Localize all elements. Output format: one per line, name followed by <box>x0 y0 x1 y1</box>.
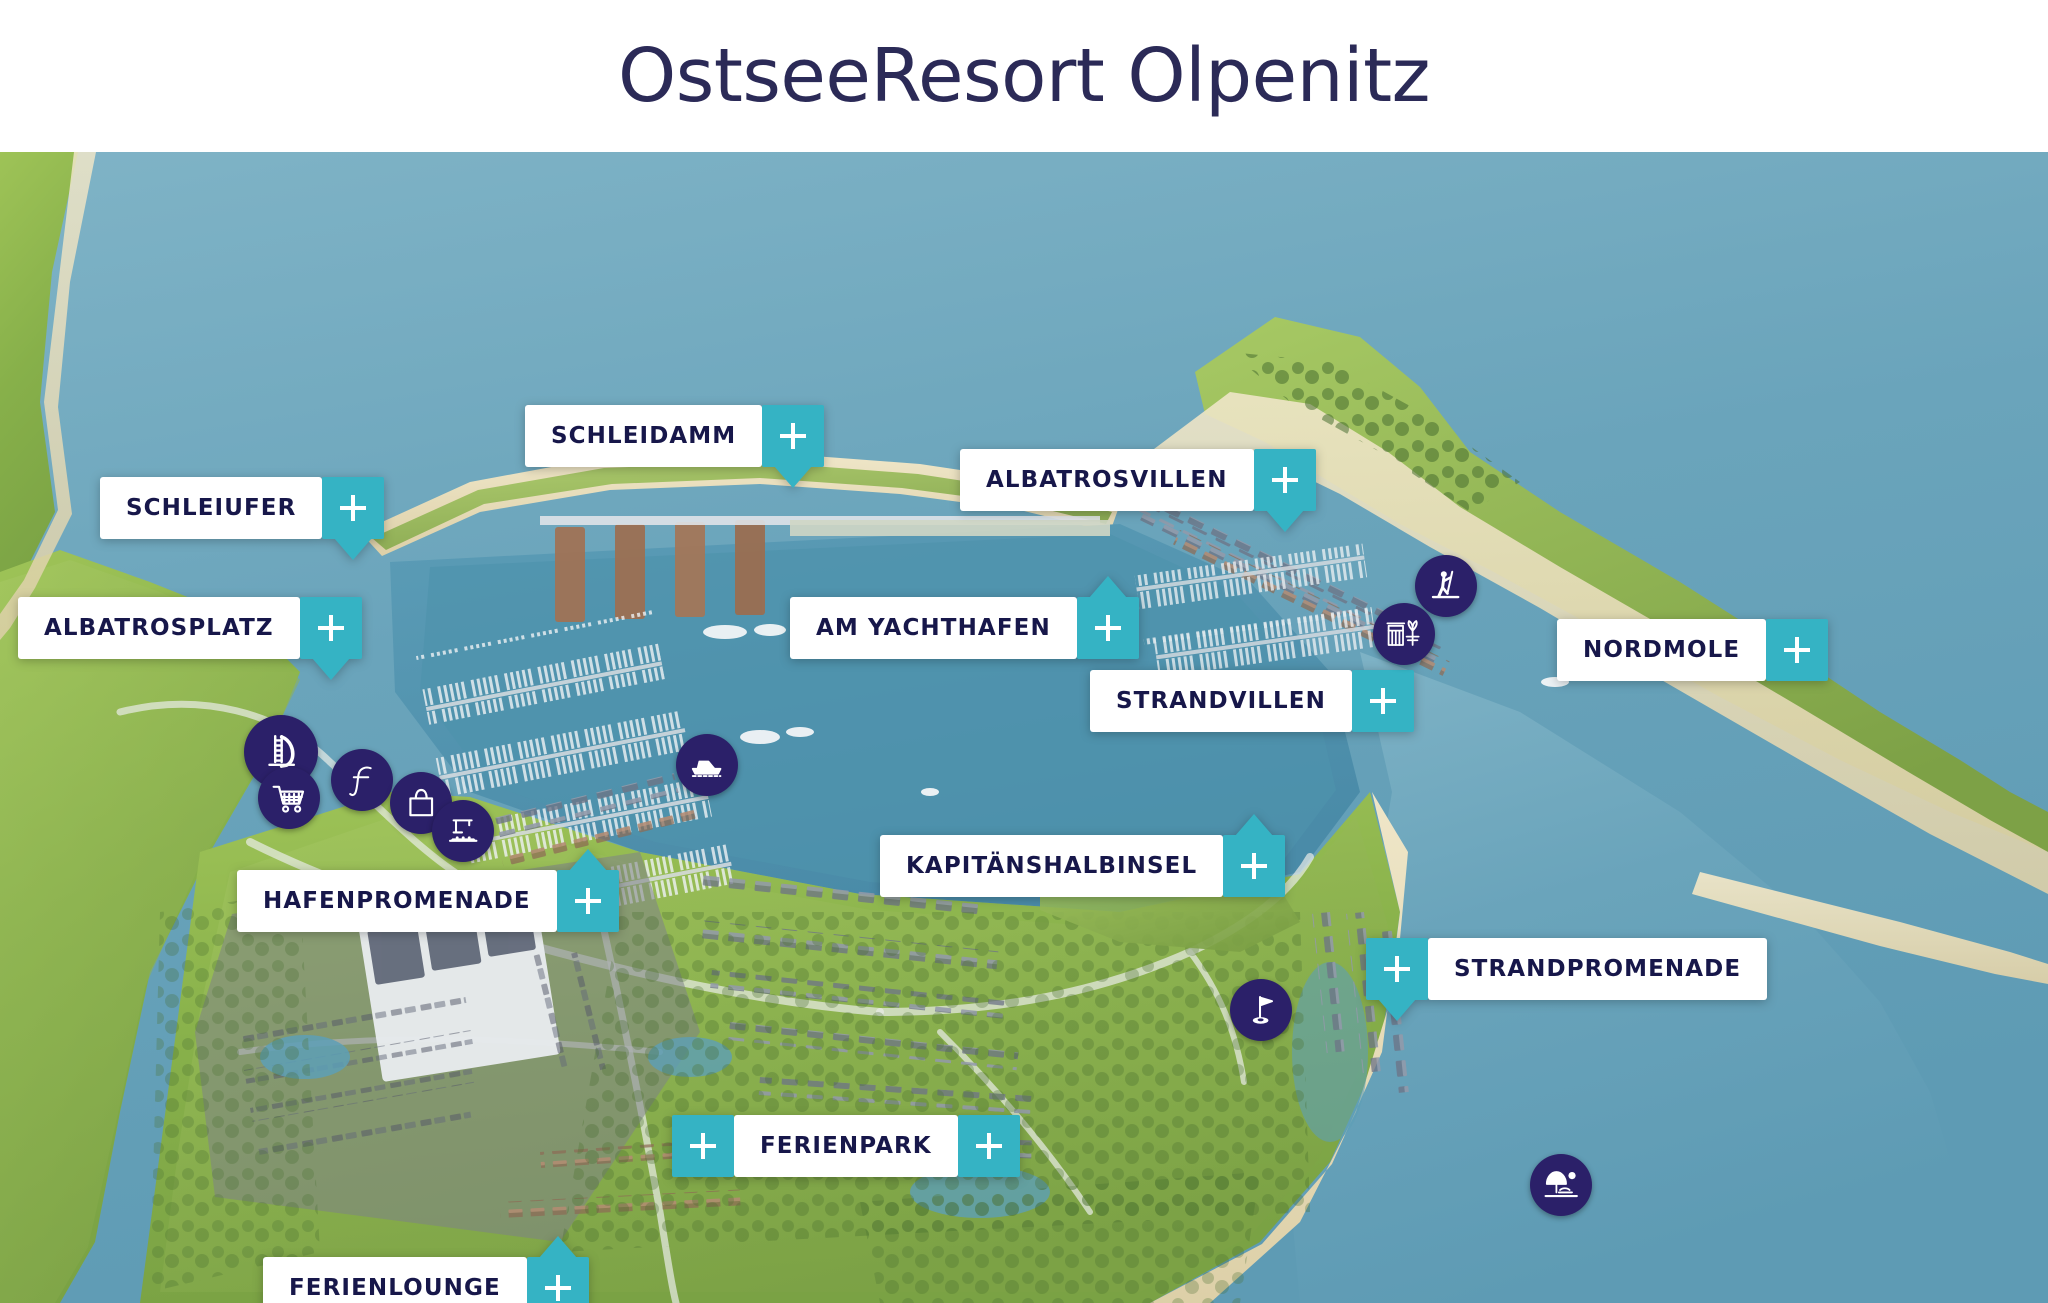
hotspot-label: HAFENPROMENADE <box>237 870 557 932</box>
hotspot-ferienpark[interactable]: FERIENPARK <box>672 1115 1020 1177</box>
hotspot-schleiufer[interactable]: SCHLEIUFER <box>100 477 384 539</box>
plus-icon[interactable] <box>1766 619 1828 681</box>
hotspot-nordmole[interactable]: NORDMOLE <box>1557 619 1828 681</box>
pointer-tail <box>1266 510 1304 532</box>
hotspot-label: NORDMOLE <box>1557 619 1766 681</box>
shopping-cart-icon[interactable] <box>258 767 320 829</box>
plus-icon[interactable] <box>762 405 824 467</box>
hotspot-albatrosvillen[interactable]: ALBATROSVILLEN <box>960 449 1316 511</box>
plus-icon-right[interactable] <box>958 1115 1020 1177</box>
hotspot-strandvillen[interactable]: STRANDVILLEN <box>1090 670 1414 732</box>
hotspot-label: KAPITÄNSHALBINSEL <box>880 835 1223 897</box>
hotspot-label: AM YACHTHAFEN <box>790 597 1077 659</box>
hotspot-ferienlounge[interactable]: FERIENLOUNGE <box>263 1257 589 1303</box>
plus-icon[interactable] <box>1077 597 1139 659</box>
plus-icon[interactable] <box>1352 670 1414 732</box>
pointer-tail <box>334 538 372 560</box>
pointer-tail <box>569 849 607 871</box>
hotspot-label: ALBATROSPLATZ <box>18 597 300 659</box>
page-title: OstseeResort Olpenitz <box>618 39 1430 113</box>
hotspot-label: ALBATROSVILLEN <box>960 449 1254 511</box>
hotspot-label: FERIENLOUNGE <box>263 1257 527 1303</box>
hotspot-label: FERIENPARK <box>734 1115 958 1177</box>
pointer-tail <box>1089 576 1127 598</box>
pointer-tail <box>1235 814 1273 836</box>
f-monogram-icon[interactable] <box>331 749 393 811</box>
hotspot-am-yachthafen[interactable]: AM YACHTHAFEN <box>790 597 1139 659</box>
plus-icon[interactable] <box>1254 449 1316 511</box>
hotspot-kapitaenshalbinsel[interactable]: KAPITÄNSHALBINSEL <box>880 835 1285 897</box>
hotspot-label: STRANDPROMENADE <box>1428 938 1767 1000</box>
hotspot-label: STRANDVILLEN <box>1090 670 1352 732</box>
golf-flag-icon[interactable] <box>1230 979 1292 1041</box>
pointer-tail <box>774 466 812 488</box>
resort-map-page: OstseeResort Olpenitz <box>0 0 2048 1303</box>
plus-icon[interactable] <box>557 870 619 932</box>
hotspot-hafenpromenade[interactable]: HAFENPROMENADE <box>237 870 619 932</box>
page-header: OstseeResort Olpenitz <box>0 0 2048 152</box>
plus-icon[interactable] <box>1223 835 1285 897</box>
plus-icon[interactable] <box>1366 938 1428 1000</box>
harbor-crane-icon[interactable] <box>432 800 494 862</box>
pointer-tail <box>312 658 350 680</box>
plus-icon[interactable] <box>322 477 384 539</box>
hotspot-label: SCHLEIUFER <box>100 477 322 539</box>
beach-umbrella-icon[interactable] <box>1530 1154 1592 1216</box>
aerial-resort-map[interactable]: SCHLEIDAMM SCHLEIUFER ALBATROSVILLEN ALB… <box>0 152 2048 1303</box>
hotspot-schleidamm[interactable]: SCHLEIDAMM <box>525 405 824 467</box>
plus-icon[interactable] <box>527 1257 589 1303</box>
spa-icon[interactable] <box>1373 603 1435 665</box>
plus-icon-left[interactable] <box>672 1115 734 1177</box>
plus-icon[interactable] <box>300 597 362 659</box>
pointer-tail <box>1378 999 1416 1021</box>
paddleboard-icon[interactable] <box>1415 555 1477 617</box>
hotspot-albatrosplatz[interactable]: ALBATROSPLATZ <box>18 597 362 659</box>
motorboat-icon[interactable] <box>676 734 738 796</box>
pointer-tail <box>539 1236 577 1258</box>
hotspot-strandpromenade[interactable]: STRANDPROMENADE <box>1366 938 1767 1000</box>
hotspot-label: SCHLEIDAMM <box>525 405 762 467</box>
